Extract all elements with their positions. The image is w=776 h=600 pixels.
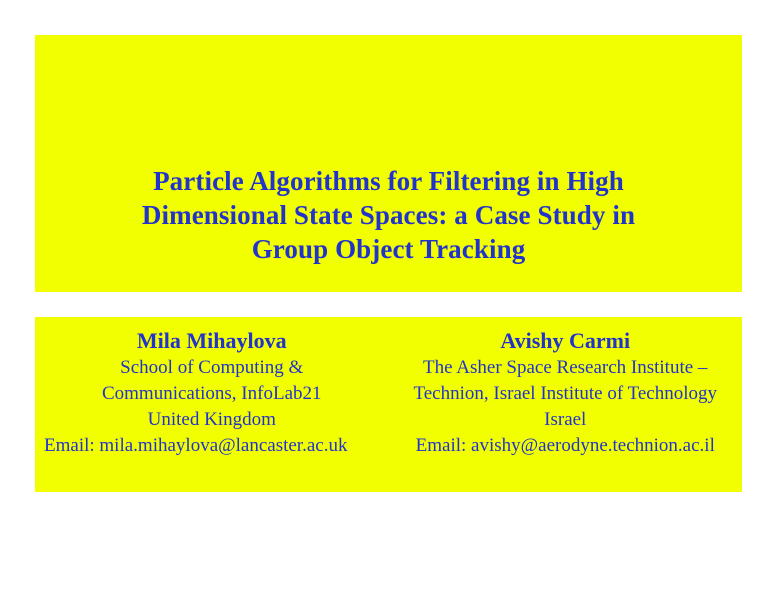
- author-affiliation-left-line-1: School of Computing &: [120, 355, 303, 381]
- authors-banner: Mila Mihaylova School of Computing & Com…: [35, 317, 742, 492]
- author-email-right: Email: avishy@aerodyne.technion.ac.il: [416, 433, 715, 459]
- author-affiliation-right-line-2: Technion, Israel Institute of Technology: [413, 381, 717, 407]
- author-name-left: Mila Mihaylova: [137, 326, 287, 355]
- title-line-3: Group Object Tracking: [252, 232, 526, 266]
- author-country-right: Israel: [544, 407, 586, 433]
- author-block-right: Avishy Carmi The Asher Space Research In…: [389, 317, 743, 492]
- title-line-2: Dimensional State Spaces: a Case Study i…: [142, 198, 635, 232]
- title-line-1: Particle Algorithms for Filtering in Hig…: [153, 164, 624, 198]
- author-country-left: United Kingdom: [148, 407, 276, 433]
- author-block-left: Mila Mihaylova School of Computing & Com…: [35, 317, 389, 492]
- author-email-left: Email: mila.mihaylova@lancaster.ac.uk: [35, 433, 389, 459]
- author-name-right: Avishy Carmi: [500, 326, 630, 355]
- author-affiliation-left-line-2: Communications, InfoLab21: [102, 381, 322, 407]
- author-affiliation-right-line-1: The Asher Space Research Institute –: [423, 355, 707, 381]
- title-banner: Particle Algorithms for Filtering in Hig…: [35, 35, 742, 292]
- title-slide: Particle Algorithms for Filtering in Hig…: [0, 0, 776, 600]
